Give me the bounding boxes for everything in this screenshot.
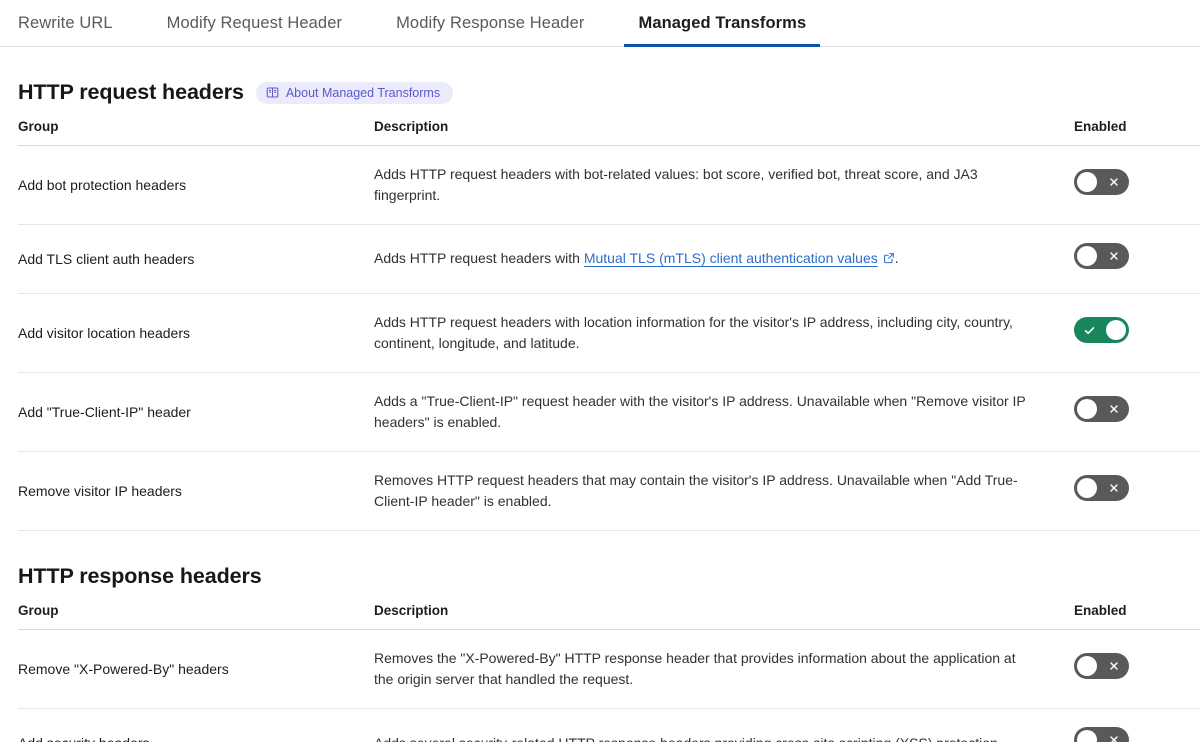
table-row: Add "True-Client-IP" headerAdds a "True-…: [18, 373, 1200, 452]
toggle-knob: [1077, 656, 1097, 676]
column-header-description: Description: [374, 603, 1074, 630]
table-row: Remove "X-Powered-By" headersRemoves the…: [18, 630, 1200, 709]
tab-managed-transforms[interactable]: Managed Transforms: [638, 0, 806, 46]
badge-label: About Managed Transforms: [286, 86, 440, 100]
book-icon: [266, 86, 279, 99]
toggle-knob: [1077, 246, 1097, 266]
row-description: Adds HTTP request headers with Mutual TL…: [374, 225, 1074, 294]
link-label: Mutual TLS (mTLS) client authentication …: [584, 250, 878, 266]
column-header-description: Description: [374, 119, 1074, 146]
column-header-group: Group: [18, 119, 374, 146]
close-icon: [1108, 727, 1120, 742]
table-row: Remove visitor IP headersRemoves HTTP re…: [18, 452, 1200, 531]
enabled-toggle[interactable]: [1074, 317, 1129, 343]
section-header: HTTP request headersAbout Managed Transf…: [0, 80, 1200, 105]
description-text: Removes HTTP request headers that may co…: [374, 472, 1018, 509]
about-managed-transforms-badge[interactable]: About Managed Transforms: [256, 82, 453, 104]
row-group-name: Add security headers: [18, 709, 374, 742]
check-icon: [1083, 317, 1096, 343]
description-text: Removes the "X-Powered-By" HTTP response…: [374, 650, 1016, 687]
tab-modify-response-header[interactable]: Modify Response Header: [396, 0, 584, 46]
row-group-name: Add visitor location headers: [18, 294, 374, 373]
row-group-name: Remove visitor IP headers: [18, 452, 374, 531]
enabled-toggle[interactable]: [1074, 475, 1129, 501]
close-icon: [1108, 396, 1120, 422]
row-description: Adds HTTP request headers with bot-relat…: [374, 146, 1074, 225]
description-text: Adds HTTP request headers with: [374, 250, 584, 266]
toggle-knob: [1077, 730, 1097, 742]
close-icon: [1108, 169, 1120, 195]
close-icon: [1108, 653, 1120, 679]
toggle-knob: [1077, 478, 1097, 498]
toggle-knob: [1077, 399, 1097, 419]
enabled-toggle[interactable]: [1074, 169, 1129, 195]
description-text: Adds a "True-Client-IP" request header w…: [374, 393, 1026, 430]
enabled-toggle[interactable]: [1074, 727, 1129, 742]
table-header-row: GroupDescriptionEnabled: [18, 119, 1200, 146]
tab-rewrite-url[interactable]: Rewrite URL: [18, 0, 113, 46]
section-header: HTTP response headers: [0, 564, 1200, 589]
table-row: Add TLS client auth headersAdds HTTP req…: [18, 225, 1200, 294]
row-group-name: Add bot protection headers: [18, 146, 374, 225]
row-description: Adds several security-related HTTP respo…: [374, 709, 1074, 742]
table-row: Add bot protection headersAdds HTTP requ…: [18, 146, 1200, 225]
tab-modify-request-header[interactable]: Modify Request Header: [167, 0, 342, 46]
tab-bar: Rewrite URLModify Request HeaderModify R…: [0, 0, 1200, 47]
column-header-enabled: Enabled: [1074, 603, 1200, 630]
row-enabled-cell: [1074, 373, 1200, 452]
enabled-toggle[interactable]: [1074, 396, 1129, 422]
section-http-request-headers: HTTP request headersAbout Managed Transf…: [0, 80, 1200, 531]
enabled-toggle[interactable]: [1074, 243, 1129, 269]
column-header-enabled: Enabled: [1074, 119, 1200, 146]
table-row: Add security headersAdds several securit…: [18, 709, 1200, 742]
section-title: HTTP request headers: [18, 80, 244, 105]
row-description: Removes HTTP request headers that may co…: [374, 452, 1074, 531]
row-enabled-cell: [1074, 294, 1200, 373]
sections-container: HTTP request headersAbout Managed Transf…: [0, 80, 1200, 742]
row-group-name: Add "True-Client-IP" header: [18, 373, 374, 452]
description-text: Adds HTTP request headers with location …: [374, 314, 1013, 351]
table-row: Add visitor location headersAdds HTTP re…: [18, 294, 1200, 373]
row-enabled-cell: [1074, 225, 1200, 294]
column-header-group: Group: [18, 603, 374, 630]
row-enabled-cell: [1074, 709, 1200, 742]
close-icon: [1108, 475, 1120, 501]
section-http-response-headers: HTTP response headersGroupDescriptionEna…: [0, 564, 1200, 742]
row-enabled-cell: [1074, 630, 1200, 709]
row-description: Adds HTTP request headers with location …: [374, 294, 1074, 373]
row-group-name: Remove "X-Powered-By" headers: [18, 630, 374, 709]
toggle-knob: [1077, 172, 1097, 192]
toggle-knob: [1106, 320, 1126, 340]
section-title: HTTP response headers: [18, 564, 262, 589]
managed-transforms-table: GroupDescriptionEnabledAdd bot protectio…: [18, 119, 1200, 531]
row-enabled-cell: [1074, 146, 1200, 225]
managed-transforms-table: GroupDescriptionEnabledRemove "X-Powered…: [18, 603, 1200, 742]
description-suffix: .: [895, 250, 899, 266]
row-description: Adds a "True-Client-IP" request header w…: [374, 373, 1074, 452]
close-icon: [1108, 243, 1120, 269]
mtls-docs-link[interactable]: Mutual TLS (mTLS) client authentication …: [584, 250, 895, 266]
row-group-name: Add TLS client auth headers: [18, 225, 374, 294]
row-enabled-cell: [1074, 452, 1200, 531]
table-header-row: GroupDescriptionEnabled: [18, 603, 1200, 630]
enabled-toggle[interactable]: [1074, 653, 1129, 679]
description-text: Adds HTTP request headers with bot-relat…: [374, 166, 978, 203]
row-description: Removes the "X-Powered-By" HTTP response…: [374, 630, 1074, 709]
external-link-icon: [883, 249, 895, 270]
description-text: Adds several security-related HTTP respo…: [374, 735, 1002, 742]
